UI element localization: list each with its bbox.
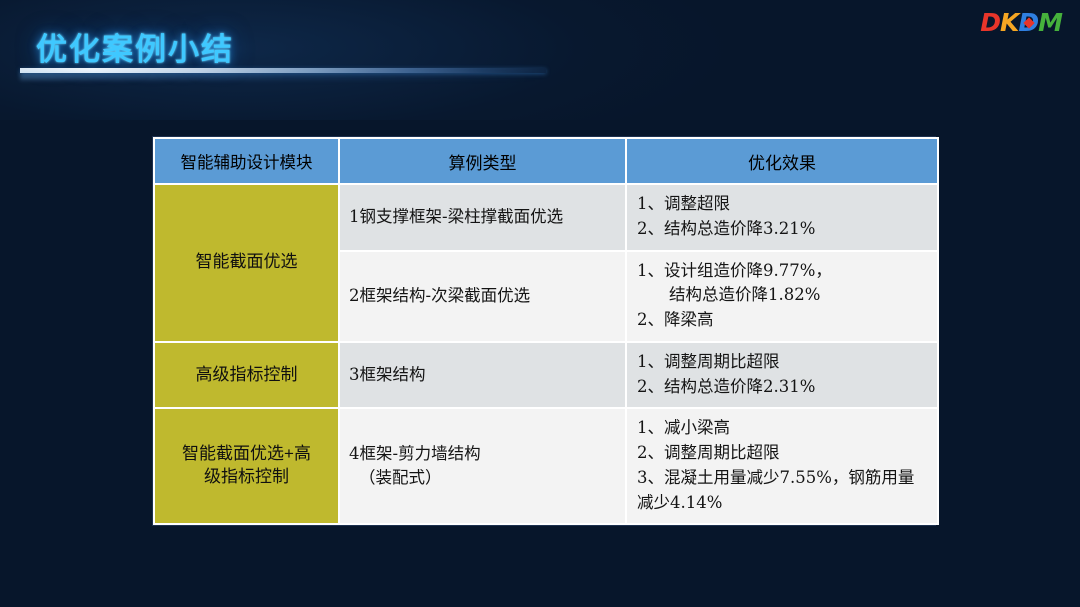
module-cell-combined: 智能截面优选+高 级指标控制	[154, 408, 339, 524]
logo-letter-m: M	[1038, 10, 1062, 35]
effect-index: 3、	[637, 468, 664, 487]
logo-letter-k: K	[1000, 10, 1018, 35]
effect-index: 2、	[637, 219, 664, 238]
effect-item: 1、设计组造价降9.77%，结构总造价降1.82%	[637, 259, 929, 309]
effect-item: 1、调整周期比超限	[637, 350, 929, 375]
case-line2: （装配式）	[349, 466, 619, 490]
effect-item: 2、降梁高	[637, 308, 929, 333]
effect-item: 1、减小梁高	[637, 416, 929, 441]
effect-subline: 结构总造价降1.82%	[637, 283, 929, 308]
title-underline-glow	[20, 73, 546, 80]
module-cell-section-optimization: 智能截面优选	[154, 184, 339, 342]
effect-index: 1、	[637, 352, 664, 371]
logo-letter-d1: D	[980, 10, 1000, 35]
page-title: 优化案例小结	[36, 24, 234, 69]
column-header-effect: 优化效果	[626, 138, 938, 184]
logo-letter-d2: D	[1018, 10, 1038, 35]
table-header-row: 智能辅助设计模块 算例类型 优化效果	[154, 138, 938, 184]
column-header-module: 智能辅助设计模块	[154, 138, 339, 184]
effect-index: 1、	[637, 194, 664, 213]
effect-item: 2、调整周期比超限	[637, 441, 929, 466]
effect-item: 2、结构总造价降3.21%	[637, 217, 929, 242]
effect-index: 2、	[637, 377, 664, 396]
module-label-line1: 智能截面优选+高	[182, 444, 311, 463]
effect-item: 2、结构总造价降2.31%	[637, 375, 929, 400]
case-cell-3: 3框架结构	[339, 342, 626, 409]
slide-canvas: 优化案例小结 DKDM 智能辅助设计模块 算例类型 优化效果 智能截面优选 1钢…	[0, 0, 1080, 607]
table-row: 高级指标控制 3框架结构 1、调整周期比超限 2、结构总造价降2.31%	[154, 342, 938, 409]
effect-text: 结构总造价降2.31%	[664, 377, 815, 396]
module-label-line2: 级指标控制	[204, 467, 289, 486]
dkdm-logo: DKDM	[980, 10, 1062, 35]
case-cell-1: 1钢支撑框架-梁柱撑截面优选	[339, 184, 626, 251]
column-header-case-type: 算例类型	[339, 138, 626, 184]
module-cell-advanced-index-control: 高级指标控制	[154, 342, 339, 409]
table-row: 智能截面优选 1钢支撑框架-梁柱撑截面优选 1、调整超限 2、结构总造价降3.2…	[154, 184, 938, 251]
effect-text: 减小梁高	[664, 418, 730, 437]
effect-index: 2、	[637, 443, 664, 462]
effect-text: 结构总造价降3.21%	[664, 219, 815, 238]
summary-table-container: 智能辅助设计模块 算例类型 优化效果 智能截面优选 1钢支撑框架-梁柱撑截面优选…	[152, 136, 936, 526]
effect-item: 1、调整超限	[637, 192, 929, 217]
effect-text: 降梁高	[664, 310, 714, 329]
case-cell-2: 2框架结构-次梁截面优选	[339, 251, 626, 342]
table-row: 智能截面优选+高 级指标控制 4框架-剪力墙结构 （装配式） 1、减小梁高 2、…	[154, 408, 938, 524]
effect-index: 1、	[637, 261, 664, 280]
effect-cell-2: 1、设计组造价降9.77%，结构总造价降1.82% 2、降梁高	[626, 251, 938, 342]
effect-cell-1: 1、调整超限 2、结构总造价降3.21%	[626, 184, 938, 251]
effect-text: 调整超限	[664, 194, 730, 213]
effect-text: 混凝土用量减少7.55%，钢筋用量减少4.14%	[637, 468, 914, 512]
effect-item: 3、混凝土用量减少7.55%，钢筋用量减少4.14%	[637, 466, 929, 516]
effect-text: 调整周期比超限	[664, 352, 780, 371]
effect-cell-4: 1、减小梁高 2、调整周期比超限 3、混凝土用量减少7.55%，钢筋用量减少4.…	[626, 408, 938, 524]
effect-cell-3: 1、调整周期比超限 2、结构总造价降2.31%	[626, 342, 938, 409]
effect-text: 设计组造价降9.77%，	[664, 261, 832, 280]
effect-index: 2、	[637, 310, 664, 329]
case-line1: 4框架-剪力墙结构	[349, 444, 481, 463]
optimization-summary-table: 智能辅助设计模块 算例类型 优化效果 智能截面优选 1钢支撑框架-梁柱撑截面优选…	[153, 137, 939, 525]
effect-index: 1、	[637, 418, 664, 437]
effect-text: 调整周期比超限	[664, 443, 780, 462]
case-cell-4: 4框架-剪力墙结构 （装配式）	[339, 408, 626, 524]
